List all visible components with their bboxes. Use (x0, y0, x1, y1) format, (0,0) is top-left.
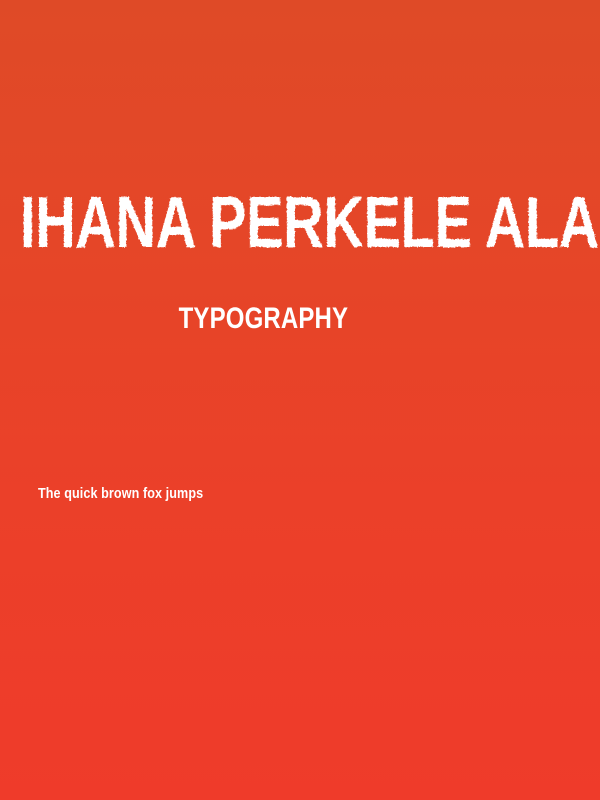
headline-clip-region: IHANA PERKELE ALASTON (0, 180, 600, 266)
specimen-headline: IHANA PERKELE ALASTON (20, 180, 600, 266)
specimen-body-sample: The quick brown fox jumps (38, 484, 203, 503)
typography-specimen-canvas: IHANA PERKELE ALASTON TYPOGRAPHY The qui… (0, 0, 600, 800)
specimen-subtitle: TYPOGRAPHY (53, 303, 475, 335)
